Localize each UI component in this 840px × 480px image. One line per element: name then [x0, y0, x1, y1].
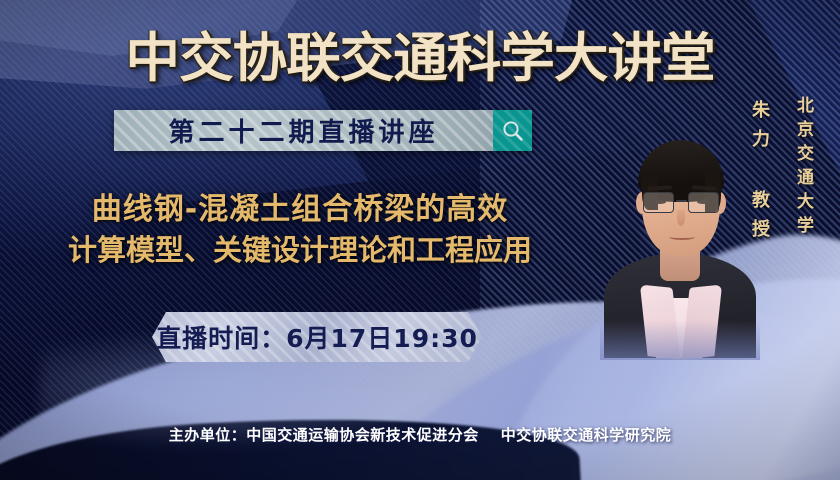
speaker-organization: 北京交通大学 — [793, 96, 813, 240]
broadcast-time-banner: 直播时间：6月17日19:30 — [152, 312, 482, 362]
speaker-mouth — [669, 234, 695, 240]
footer-org-1: 中国交通运输协会新技术促进分会 — [246, 426, 479, 444]
lecture-poster: 中交协联交通科学大讲堂 第二十二期直播讲座 曲线钢-混凝土组合桥梁的高效 计算模… — [0, 0, 840, 480]
speaker-photo — [600, 118, 760, 358]
speaker-name: 朱力 教授 — [748, 100, 770, 248]
glasses-bridge — [676, 200, 687, 202]
glasses-lens-right — [688, 192, 719, 213]
footer-org-2: 中交协联交通科学研究院 — [501, 426, 672, 444]
glasses-lens-left — [643, 192, 674, 213]
footer-organizers: 主办单位：中国交通运输协会新技术促进分会中交协联交通科学研究院 — [0, 424, 840, 445]
main-title: 中交协联交通科学大讲堂 — [0, 16, 840, 92]
search-icon — [501, 119, 525, 143]
speaker-nose — [677, 210, 685, 226]
episode-label-box: 第二十二期直播讲座 — [114, 110, 493, 151]
lecture-title: 曲线钢-混凝土组合桥梁的高效 计算模型、关键设计理论和工程应用 — [0, 190, 600, 270]
search-icon-box[interactable] — [493, 110, 532, 151]
speaker-bottom-fade — [600, 320, 760, 360]
episode-label: 第二十二期直播讲座 — [168, 112, 438, 149]
broadcast-time-text: 直播时间：6月17日19:30 — [156, 319, 478, 355]
lecture-title-line-2: 计算模型、关键设计理论和工程应用 — [0, 230, 600, 270]
footer-prefix: 主办单位： — [169, 426, 247, 444]
lecture-title-line-1: 曲线钢-混凝土组合桥梁的高效 — [0, 190, 600, 230]
episode-banner[interactable]: 第二十二期直播讲座 — [114, 110, 532, 151]
